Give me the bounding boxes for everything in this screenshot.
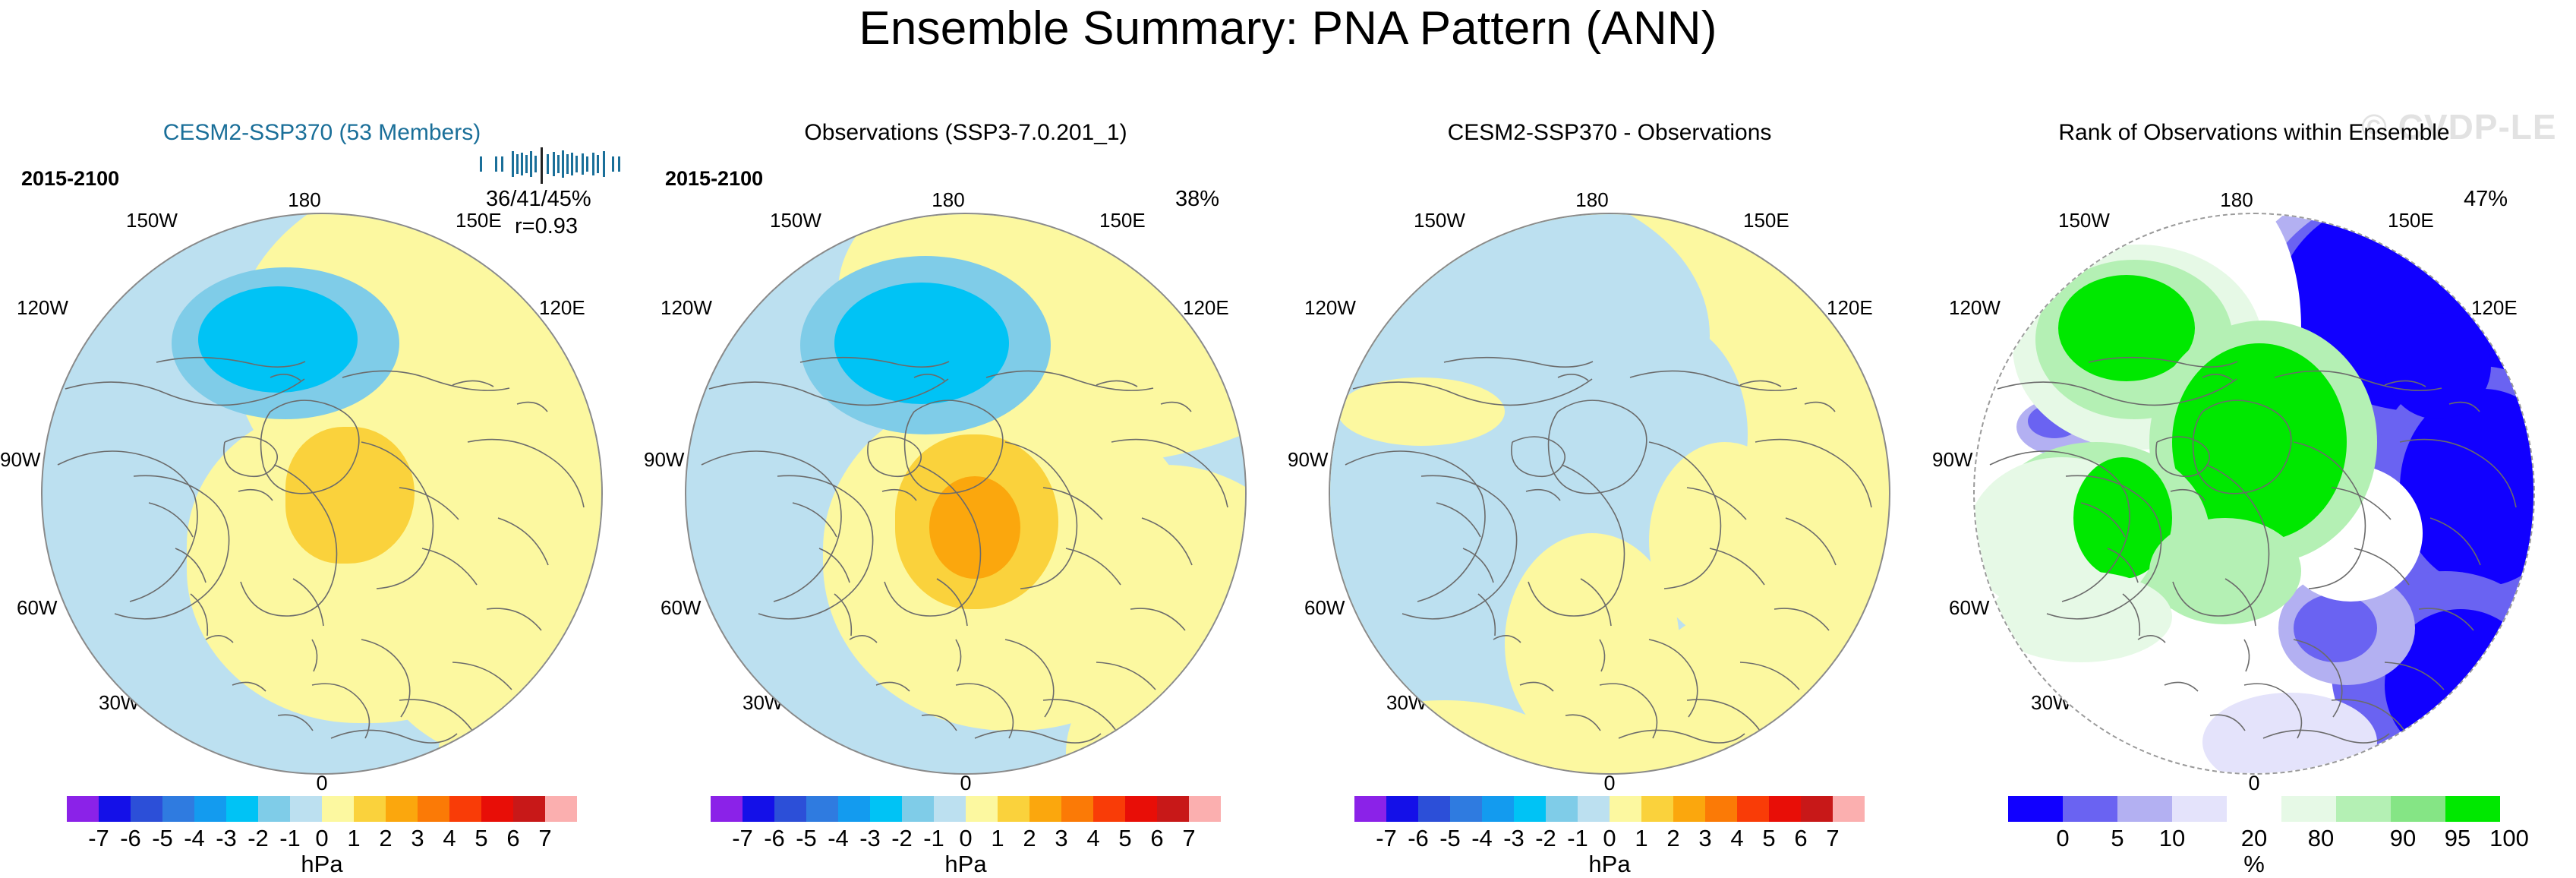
lon-label-90W: 90W [0, 448, 40, 472]
coastline-overlay [43, 214, 603, 775]
anomaly-colorbar [1354, 796, 1865, 822]
anomaly-colorbar-ticks: -7 -6 -5 -4 -3 -2 -1 0 1 2 3 4 5 6 7 [689, 825, 1242, 852]
lon-label-180: 180 [2220, 188, 2253, 212]
panel-title: Rank of Observations within Ensemble [1932, 120, 2576, 146]
map-difference[interactable] [1329, 213, 1890, 775]
lon-label-180: 180 [932, 188, 964, 212]
panel-title: CESM2-SSP370 (53 Members) [0, 120, 644, 146]
panel-observations: Observations (SSP3-7.0.201_1) 2015-2100 … [644, 91, 1288, 848]
page-title: Ensemble Summary: PNA Pattern (ANN) [0, 2, 2576, 55]
colorbar-zero-marker: 0 [1288, 772, 1931, 795]
colorbar-unit: hPa [0, 851, 644, 878]
lon-label-90W: 90W [1288, 448, 1328, 472]
lon-label-180: 180 [1575, 188, 1608, 212]
colorbar-unit: % [1932, 851, 2576, 878]
coastline-overlay [686, 214, 1247, 775]
anomaly-colorbar [67, 796, 577, 822]
panel-ensemble-mean: CESM2-SSP370 (53 Members) 2015-2100 36/4… [0, 91, 644, 848]
period-label: 2015-2100 [21, 167, 119, 191]
anomaly-colorbar [711, 796, 1221, 822]
lon-label-90W: 90W [1932, 448, 1972, 472]
map-rank[interactable] [1973, 213, 2535, 775]
colorbar-zero-marker: 0 [0, 772, 644, 795]
panel-title: CESM2-SSP370 - Observations [1288, 120, 1931, 146]
variance-stat: 36/41/45% [486, 187, 591, 212]
lon-label-90W: 90W [644, 448, 684, 472]
map-ensemble-mean[interactable] [41, 213, 603, 775]
panel-rank: Rank of Observations within Ensemble 47%… [1932, 91, 2576, 848]
lon-label-180: 180 [288, 188, 320, 212]
coastline-overlay [1975, 214, 2535, 775]
panel-title: Observations (SSP3-7.0.201_1) [644, 120, 1288, 146]
rank-colorbar-ticks: 0 5 10 20 80 90 95 100 [1978, 825, 2530, 852]
period-label: 2015-2100 [665, 167, 763, 191]
variance-stat: 47% [2464, 187, 2508, 212]
colorbar-zero-marker: 0 [644, 772, 1288, 795]
coastline-overlay [1330, 214, 1890, 775]
colorbar-unit: hPa [1288, 851, 1931, 878]
colorbar-zero-marker: 0 [1932, 772, 2576, 795]
member-rugplot [477, 150, 621, 181]
panel-difference: CESM2-SSP370 - Observations 180 150W 150… [1288, 91, 1931, 848]
anomaly-colorbar-ticks: -7 -6 -5 -4 -3 -2 -1 0 1 2 3 4 5 6 7 [1333, 825, 1886, 852]
rank-colorbar [2008, 796, 2500, 822]
map-observations[interactable] [685, 213, 1247, 775]
colorbar-unit: hPa [644, 851, 1288, 878]
variance-stat: 38% [1175, 187, 1219, 212]
anomaly-colorbar-ticks: -7 -6 -5 -4 -3 -2 -1 0 1 2 3 4 5 6 7 [46, 825, 598, 852]
